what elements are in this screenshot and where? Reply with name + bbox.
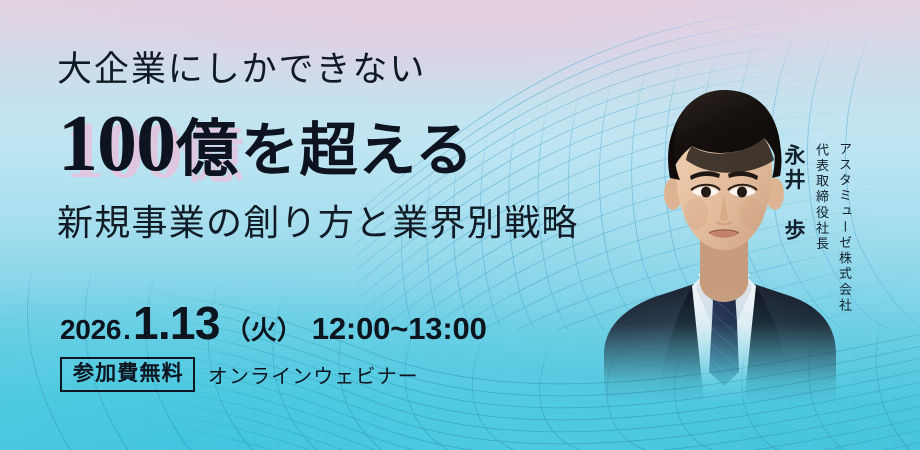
headline-line-2: 100 億 を超える [58,104,474,186]
schedule-row: 2026 . 1.13 （火） 12:00~13:00 [60,296,487,342]
free-admission-badge: 参加費無料 [60,357,195,392]
schedule-separator: . [121,314,133,346]
webinar-banner: 大企業にしかできない 100 億 を超える 新規事業の創り方と業界別戦略 202… [0,0,920,450]
headline-unit: 億 [176,119,239,181]
format-label: オンラインウェビナー [208,360,419,389]
schedule-month-day: 1.13 [133,296,220,350]
speaker-credit: アスタミューゼ株式会社 代表取締役社長 永井 歩 [778,142,854,392]
schedule-day-of-week: （火） [220,310,303,347]
schedule-year: 2026 [60,314,121,346]
meta-row: 参加費無料 オンラインウェビナー [60,357,419,392]
headline-tail: を超える [241,122,474,180]
speaker-company: アスタミューゼ株式会社 [835,142,854,314]
headline-line-1: 大企業にしかできない [57,52,426,87]
speaker-title: 代表取締役社長 [812,143,831,252]
copy-block: 大企業にしかできない 100 億 を超える 新規事業の創り方と業界別戦略 202… [0,0,600,450]
headline-number: 100 [58,104,175,184]
schedule-time: 12:00~13:00 [303,311,487,347]
speaker-name: 永井 歩 [778,144,808,243]
headline-line-3: 新規事業の創り方と業界別戦略 [57,205,579,241]
